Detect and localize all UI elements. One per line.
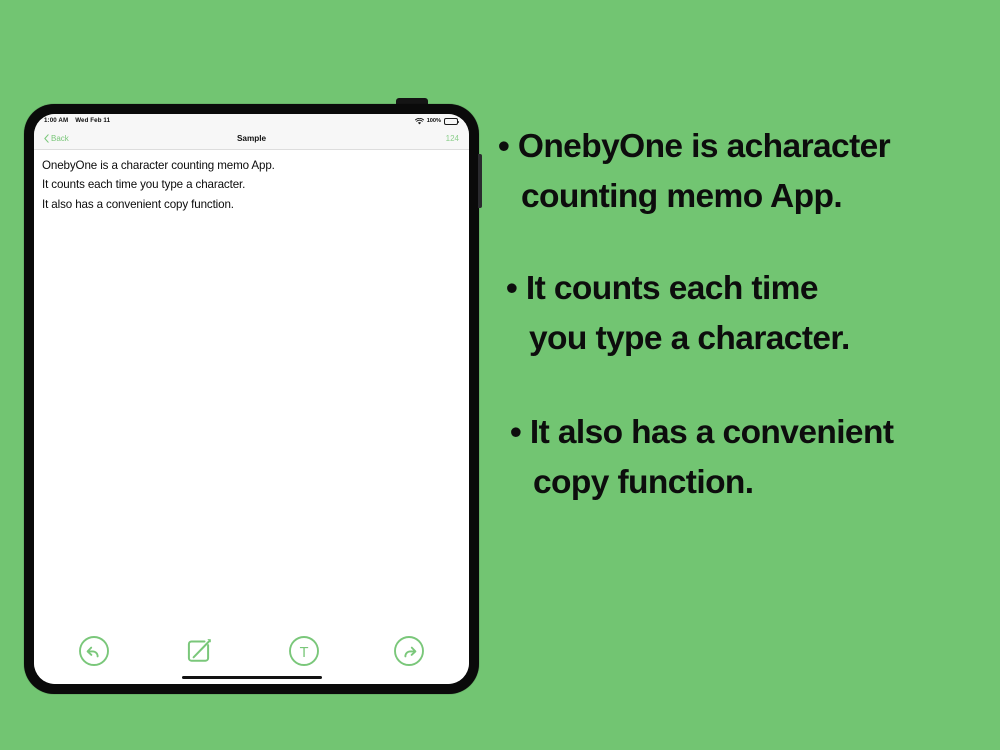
caption-line-2: counting memo App. <box>498 172 990 222</box>
memo-text-area[interactable]: OnebyOne is a character counting memo Ap… <box>34 150 469 630</box>
status-date: Wed Feb 11 <box>75 118 110 124</box>
page-title: Sample <box>34 135 469 143</box>
memo-line: It counts each time you type a character… <box>42 175 459 194</box>
caption-list: • OnebyOne is acharacter counting memo A… <box>498 122 990 550</box>
svg-text:T: T <box>299 645 308 661</box>
caption-line-2: you type a character. <box>506 314 990 364</box>
caption-item: • It also has a convenient copy function… <box>510 408 990 508</box>
side-button[interactable] <box>478 154 482 208</box>
status-bar-left: 1:00 AM Wed Feb 11 <box>44 118 110 124</box>
undo-button[interactable] <box>42 630 147 676</box>
caption-bullet: • <box>498 128 509 165</box>
chevron-left-icon <box>44 130 49 148</box>
caption-bullet: • <box>506 270 517 307</box>
tablet-screen: 1:00 AM Wed Feb 11 100% <box>34 114 469 684</box>
caption-line-2: copy function. <box>510 458 990 508</box>
caption-line-1: It also has a convenient <box>530 414 894 451</box>
compose-button[interactable] <box>147 630 252 676</box>
battery-percent-label: 100% <box>427 119 441 125</box>
redo-button[interactable] <box>356 630 461 676</box>
text-circle-icon: T <box>288 635 320 672</box>
back-label: Back <box>51 135 69 143</box>
caption-line-1: OnebyOne is acharacter <box>518 128 890 165</box>
status-bar: 1:00 AM Wed Feb 11 100% <box>34 114 469 129</box>
caption-item: • It counts each time you type a charact… <box>506 264 990 364</box>
battery-icon <box>444 118 458 125</box>
caption-line-1: It counts each time <box>526 270 818 307</box>
status-bar-right: 100% <box>415 118 458 125</box>
caption-bullet: • <box>510 414 521 451</box>
wifi-icon <box>415 118 424 125</box>
caption-item: • OnebyOne is acharacter counting memo A… <box>498 122 990 222</box>
compose-pencil-icon <box>182 634 216 673</box>
home-indicator <box>182 676 322 679</box>
character-count-badge: 124 <box>446 135 459 143</box>
undo-circle-icon <box>78 635 110 672</box>
tablet-device-frame: 1:00 AM Wed Feb 11 100% <box>24 104 479 694</box>
status-time: 1:00 AM <box>44 118 68 124</box>
memo-line: OnebyOne is a character counting memo Ap… <box>42 156 459 175</box>
back-button[interactable]: Back <box>44 130 69 148</box>
navigation-bar: Back Sample 124 <box>34 129 469 150</box>
text-button[interactable]: T <box>252 630 357 676</box>
memo-line: It also has a convenient copy function. <box>42 195 459 214</box>
redo-circle-icon <box>393 635 425 672</box>
